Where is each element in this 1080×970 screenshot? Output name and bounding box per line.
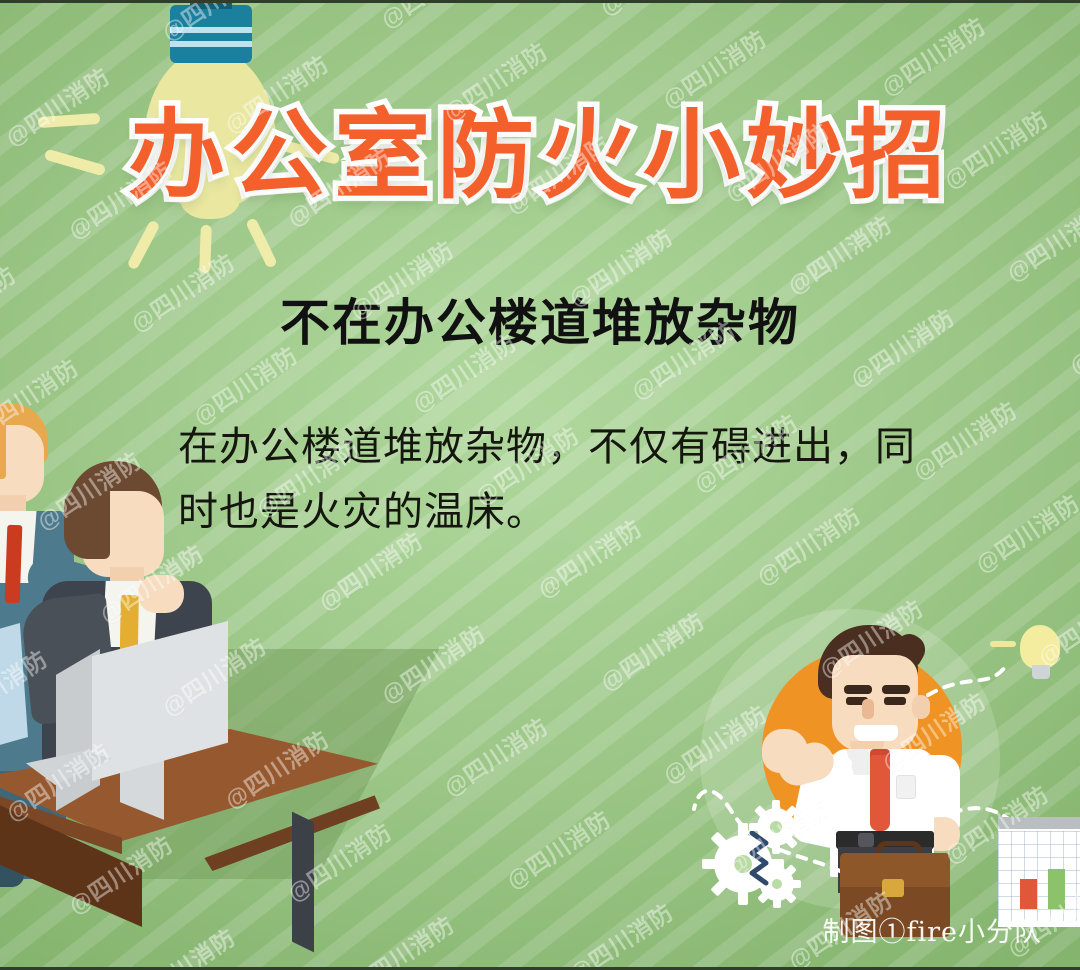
light-ray — [245, 217, 278, 269]
briefcase-lock — [882, 879, 904, 897]
zigzag-connector — [746, 831, 780, 887]
light-ray — [126, 219, 160, 270]
lightbulb-cap-stripe — [170, 27, 252, 33]
standing-colleague-hair-side — [0, 415, 6, 479]
chart-bar-red — [1020, 879, 1037, 909]
clipboard-chart-grid — [998, 831, 1080, 921]
standing-colleague-head — [0, 425, 44, 503]
mini-lightbulb-icon — [1020, 625, 1060, 669]
mini-lightbulb-base — [1032, 665, 1050, 679]
mini-light-ray — [990, 641, 1016, 647]
clipboard-chart-clip — [998, 817, 1080, 829]
lightbulb-cap-top — [190, 0, 232, 9]
standing-colleague-hand-on-shoulder — [138, 575, 184, 613]
office-desk-illustration — [0, 399, 394, 899]
seated-worker-hair-side — [64, 485, 110, 559]
chart-bar-green — [1048, 869, 1065, 909]
desk-leg — [292, 812, 314, 953]
credit-label: 制图①fire小分队 — [822, 910, 1042, 949]
poster-subtitle: 不在办公楼道堆放杂物 — [0, 293, 1080, 353]
lightbulb-cap-stripe — [170, 41, 252, 47]
poster-title: 办公室防火小妙招 — [0, 107, 1080, 204]
watermark-text: @四川消防 — [719, 0, 938, 1]
standing-colleague-tie — [5, 525, 23, 603]
poster-canvas: 办公室防火小妙招 不在办公楼道堆放杂物 在办公楼道堆放杂物，不仅有碍进出，同时也… — [0, 0, 1080, 970]
light-ray — [199, 225, 212, 273]
lightbulb-cap — [170, 5, 252, 63]
